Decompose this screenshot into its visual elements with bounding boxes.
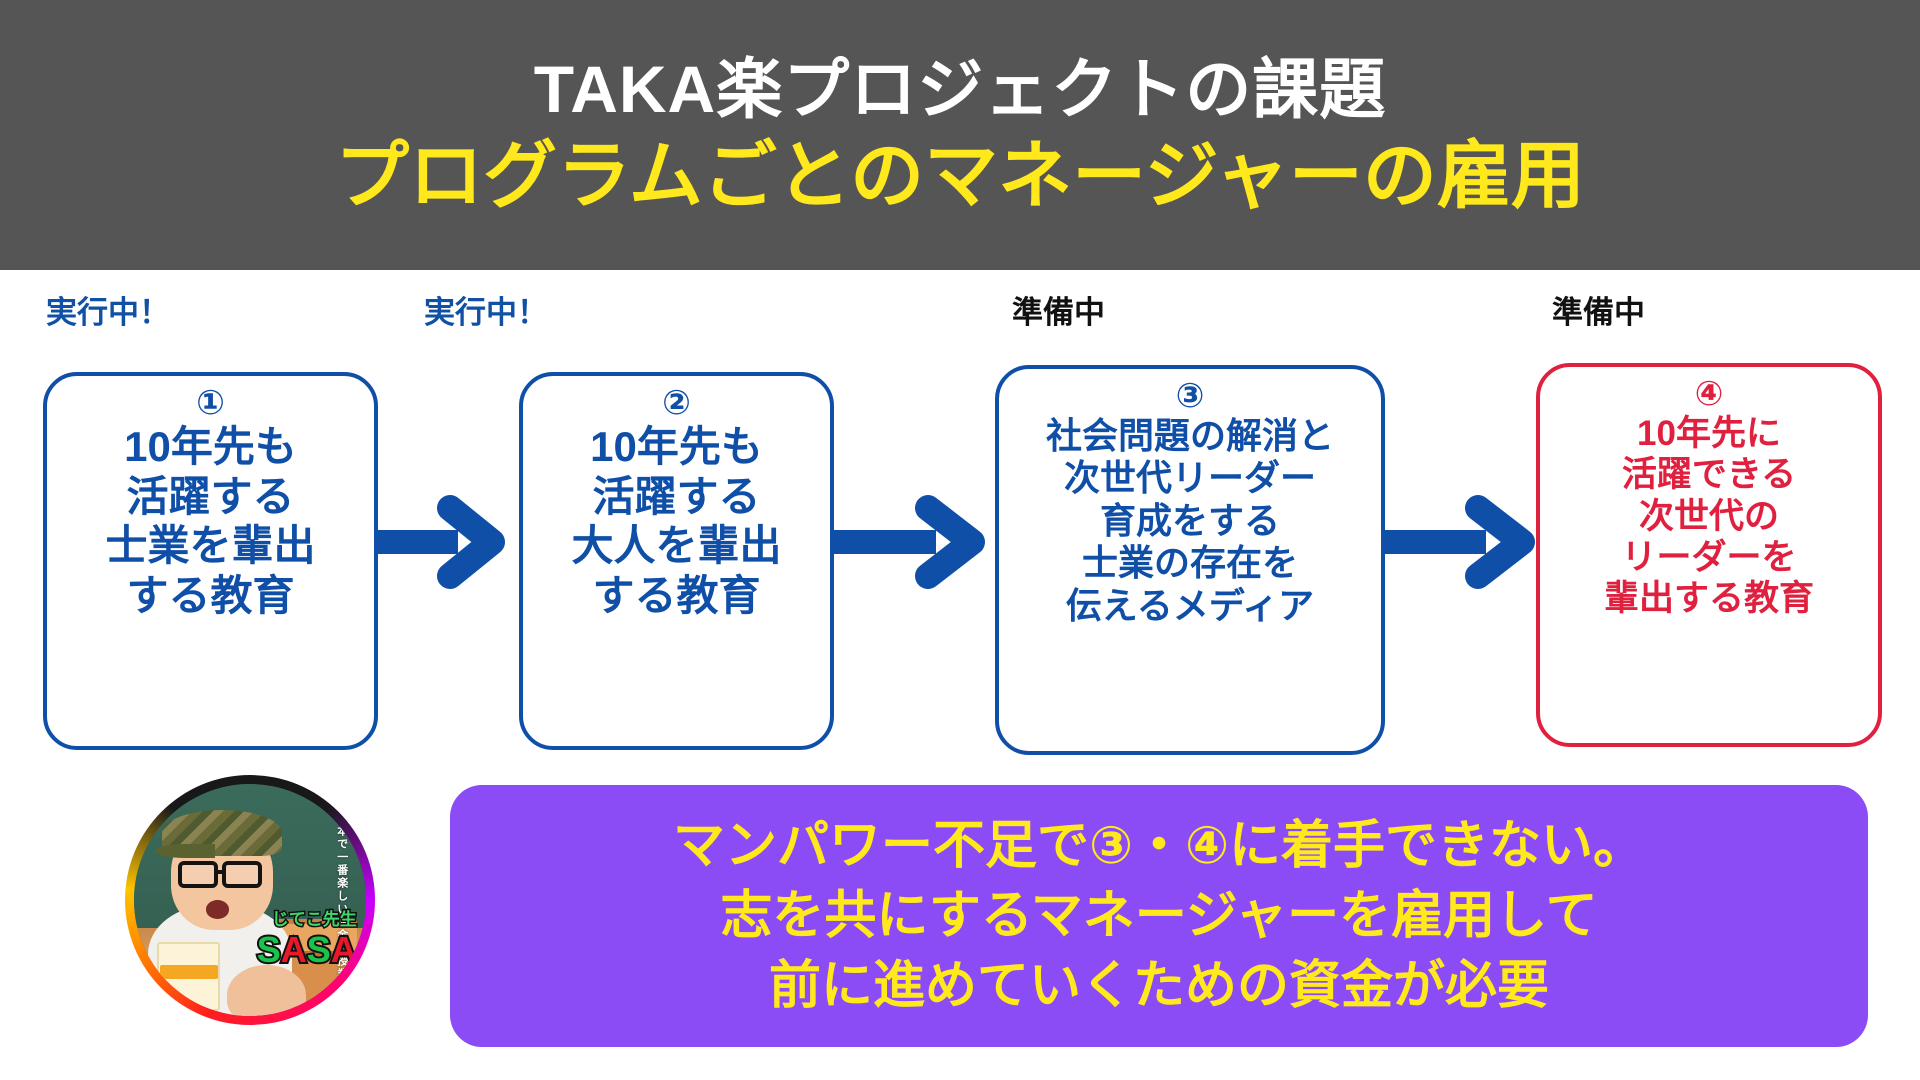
header-band: TAKA楽プロジェクトの課題 プログラムごとのマネージャーの雇用 — [0, 0, 1920, 270]
flow-step-box-1[interactable]: ① 10年先も 活躍する 士業を輩出 する教育 — [43, 372, 378, 750]
page-subtitle: プログラムごとのマネージャーの雇用 — [335, 135, 1585, 218]
glasses-bridge — [216, 870, 225, 874]
step-3-line-3: 育成をする — [1100, 500, 1280, 542]
cap-brim — [155, 844, 215, 858]
step-number-4: ④ — [1695, 377, 1724, 411]
step-3-line-4: 士業の存在を — [1082, 542, 1298, 584]
step-number-3: ③ — [1176, 379, 1205, 413]
flow-step-box-3[interactable]: ③ 社会問題の解消と 次世代リーダー 育成をする 士業の存在を 伝えるメディア — [995, 365, 1385, 755]
callout-banner: マンパワー不足で③・④に着手できない。 志を共にするマネージャーを雇用して 前に… — [450, 785, 1868, 1047]
held-book-band — [160, 965, 218, 979]
brand-letter-2: A — [281, 929, 307, 970]
person-hand — [227, 965, 306, 1016]
status-label-step-3: 準備中 — [1012, 287, 1105, 332]
step-1-line-2: 活躍する — [126, 472, 294, 522]
step-text-4: 10年先に 活躍できる 次世代の リーダーを 輩出する教育 — [1604, 413, 1814, 619]
step-4-line-3: 次世代の — [1639, 496, 1779, 537]
brand-letter-3: S — [307, 929, 331, 970]
step-3-line-1: 社会問題の解消と — [1046, 415, 1334, 457]
glasses-left-lens — [178, 861, 217, 889]
step-text-1: 10年先も 活躍する 士業を輩出 する教育 — [105, 422, 315, 620]
step-number-2: ② — [662, 386, 691, 420]
step-text-2: 10年先も 活躍する 大人を輩出 する教育 — [571, 422, 781, 620]
avatar-photo: 日本で一番楽しい税金の授業 じてこ先生 SASA — [134, 784, 366, 1016]
flow-step-box-2[interactable]: ② 10年先も 活躍する 大人を輩出 する教育 — [519, 372, 834, 750]
arrow-step1-to-step2 — [372, 492, 512, 592]
step-number-1: ① — [196, 386, 225, 420]
arrow-step3-to-step4 — [1378, 492, 1543, 592]
step-3-line-2: 次世代リーダー — [1064, 457, 1316, 499]
step-2-line-2: 活躍する — [592, 472, 760, 522]
flow-step-box-4[interactable]: ④ 10年先に 活躍できる 次世代の リーダーを 輩出する教育 — [1536, 363, 1882, 747]
brand-letter-4: A — [331, 929, 357, 970]
step-4-line-1: 10年先に — [1637, 413, 1781, 454]
channel-brand-text: SASA — [257, 932, 357, 968]
callout-line-1: マンパワー不足で③・④に着手できない。 — [673, 811, 1645, 881]
brand-letter-1: S — [257, 929, 281, 970]
step-4-line-4: リーダーを — [1621, 537, 1796, 578]
step-2-line-4: する教育 — [592, 571, 760, 621]
avatar: 日本で一番楽しい税金の授業 じてこ先生 SASA — [125, 775, 375, 1025]
status-label-step-2: 実行中！ — [424, 287, 548, 332]
arrow-step2-to-step3 — [828, 492, 993, 592]
process-flow: 実行中！ 実行中！ 準備中 準備中 ① 10年先も 活躍する 士業を輩出 する教… — [0, 270, 1920, 770]
status-label-step-4: 準備中 — [1552, 287, 1645, 332]
step-2-line-1: 10年先も — [590, 422, 763, 472]
person-mouth — [206, 900, 229, 919]
page-title: TAKA楽プロジェクトの課題 — [534, 53, 1386, 127]
step-1-line-3: 士業を輩出 — [105, 521, 315, 571]
step-text-3: 社会問題の解消と 次世代リーダー 育成をする 士業の存在を 伝えるメディア — [1046, 415, 1334, 627]
callout-line-2: 志を共にするマネージャーを雇用して — [720, 881, 1597, 951]
status-label-step-1: 実行中！ — [46, 287, 170, 332]
channel-name-text: じてこ先生 — [272, 905, 357, 930]
step-3-line-5: 伝えるメディア — [1066, 585, 1314, 627]
step-1-line-4: する教育 — [126, 571, 294, 621]
step-2-line-3: 大人を輩出 — [571, 521, 781, 571]
step-4-line-5: 輩出する教育 — [1604, 578, 1814, 619]
step-1-line-1: 10年先も — [124, 422, 297, 472]
glasses-right-lens — [222, 861, 261, 889]
step-4-line-2: 活躍できる — [1622, 454, 1796, 495]
callout-line-3: 前に進めていくための資金が必要 — [769, 951, 1549, 1021]
